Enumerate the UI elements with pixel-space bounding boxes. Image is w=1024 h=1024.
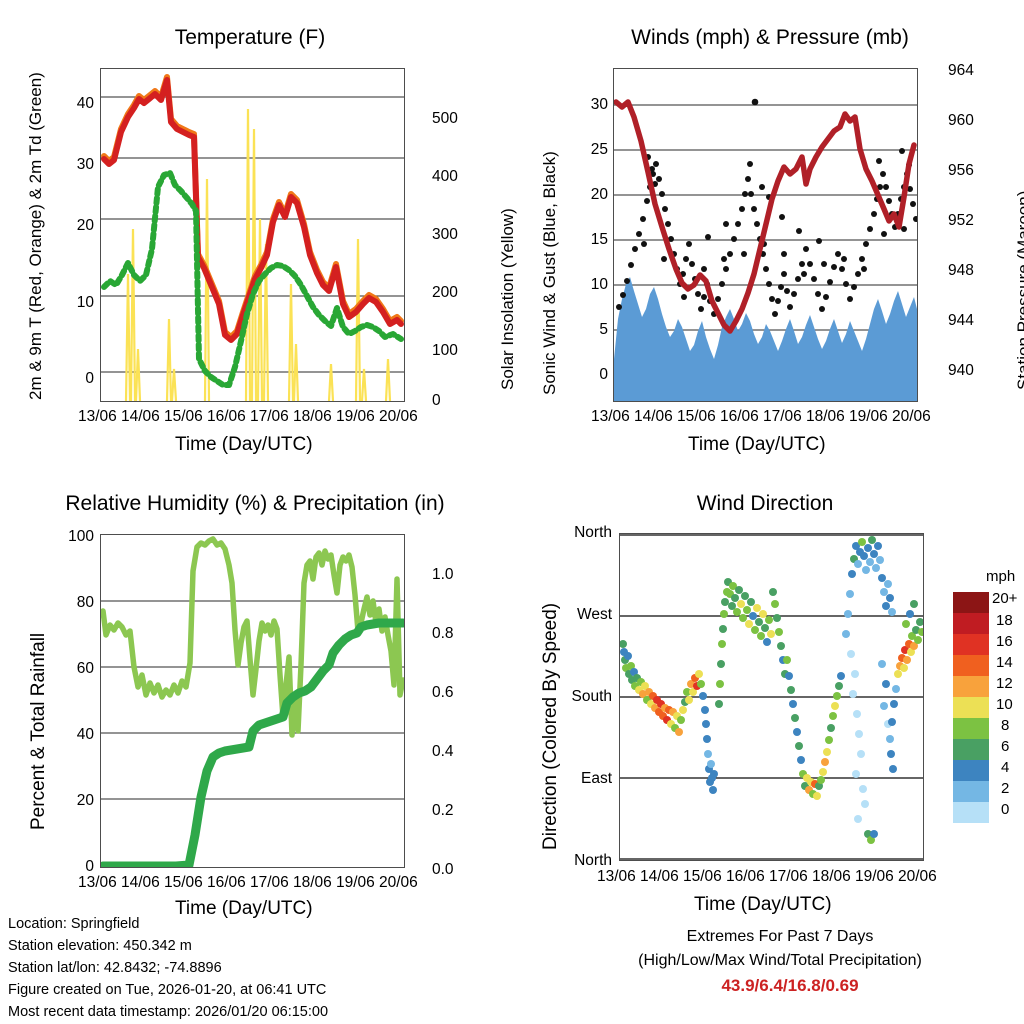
temperature-xtick-5: 18/06 <box>293 408 332 426</box>
humidity-xtick-7: 20/06 <box>379 874 418 892</box>
colorbar-unit-label: mph <box>986 568 1015 585</box>
temperature-ytick-right-2: 300 <box>432 226 458 244</box>
winddir-xlabel: Time (Day/UTC) <box>694 894 832 916</box>
temperature-ylabel-right: Solar Insolation (Yellow) <box>498 208 518 390</box>
winds-ylabel-left: Sonic Wind & Gust (Blue, Black) <box>540 151 560 395</box>
colorbar-label-5: 10 <box>996 696 1013 713</box>
winddir-xtick-2: 15/06 <box>683 868 722 886</box>
winds-ytick-left-5: 5 <box>568 321 608 339</box>
extremes-title: Extremes For Past 7 Days <box>600 928 960 946</box>
temperature-xlabel: Time (Day/UTC) <box>175 434 313 456</box>
temperature-xtick-0: 13/06 <box>78 408 117 426</box>
temperature-chart-svg <box>101 69 404 401</box>
temperature-ytick-right-5: 0 <box>432 392 441 410</box>
humidity-xlabel: Time (Day/UTC) <box>175 898 313 920</box>
winddir-ylabel-left: Direction (Colored By Speed) <box>540 603 562 850</box>
humidity-xtick-4: 17/06 <box>250 874 289 892</box>
humidity-ytick-left-3: 40 <box>50 726 94 744</box>
footer-latlon: Station lat/lon: 42.8432; -74.8896 <box>8 960 222 976</box>
winds-plot-area <box>613 68 918 402</box>
temperature-xtick-7: 20/06 <box>379 408 418 426</box>
winds-xtick-4: 17/06 <box>763 408 802 426</box>
winddir-xtick-3: 16/06 <box>726 868 765 886</box>
colorbar-label-4: 12 <box>996 675 1013 692</box>
winddir-title: Wind Direction <box>655 492 875 516</box>
winddir-xtick-7: 20/06 <box>898 868 937 886</box>
temperature-ytick-left-2: 20 <box>54 217 94 235</box>
extremes-subtitle: (High/Low/Max Wind/Total Precipitation) <box>580 952 980 970</box>
temperature-ytick-left-4: 0 <box>54 370 94 388</box>
humidity-plot-area <box>100 534 405 868</box>
footer-created: Figure created on Tue, 2026-01-20, at 06… <box>8 982 326 998</box>
temperature-xtick-6: 19/06 <box>336 408 375 426</box>
winddir-ytick-3: East <box>560 770 612 788</box>
humidity-ytick-right-3: 0.4 <box>432 743 454 761</box>
winds-ytick-right-1: 960 <box>948 112 974 130</box>
temperature-ytick-right-1: 400 <box>432 168 458 186</box>
colorbar-label-6: 8 <box>1001 717 1009 734</box>
footer-location: Location: Springfield <box>8 916 139 932</box>
winddir-xtick-4: 17/06 <box>769 868 808 886</box>
temperature-ytick-right-4: 100 <box>432 342 458 360</box>
winds-ytick-left-1: 25 <box>568 141 608 159</box>
winds-ytick-right-3: 952 <box>948 212 974 230</box>
humidity-xtick-2: 15/06 <box>164 874 203 892</box>
winddir-chart-svg <box>620 534 923 860</box>
winds-ytick-right-5: 944 <box>948 312 974 330</box>
winddir-plot-area <box>619 533 924 861</box>
winds-xtick-0: 13/06 <box>591 408 630 426</box>
colorbar-label-2: 16 <box>996 633 1013 650</box>
temperature-ytick-left-0: 40 <box>54 95 94 113</box>
colorbar-label-3: 14 <box>996 654 1013 671</box>
extremes-values: 43.9/6.4/16.8/0.69 <box>620 976 960 996</box>
humidity-ytick-right-2: 0.6 <box>432 684 454 702</box>
winds-xtick-5: 18/06 <box>806 408 845 426</box>
winddir-xtick-5: 18/06 <box>812 868 851 886</box>
winds-ytick-right-4: 948 <box>948 262 974 280</box>
humidity-ytick-left-1: 80 <box>50 594 94 612</box>
humidity-xtick-0: 13/06 <box>78 874 117 892</box>
winds-ytick-left-4: 10 <box>568 276 608 294</box>
humidity-ylabel-left: Percent & Total Rainfall <box>28 633 50 830</box>
winds-xlabel: Time (Day/UTC) <box>688 434 826 456</box>
winds-ytick-right-2: 956 <box>948 162 974 180</box>
footer-timestamp: Most recent data timestamp: 2026/01/20 0… <box>8 1004 328 1020</box>
winds-xtick-3: 16/06 <box>720 408 759 426</box>
winds-chart-svg <box>614 69 917 401</box>
winddir-xtick-1: 14/06 <box>640 868 679 886</box>
temperature-ytick-right-3: 200 <box>432 284 458 302</box>
winds-ytick-right-0: 964 <box>948 62 974 80</box>
temperature-ytick-left-1: 30 <box>54 156 94 174</box>
winds-ytick-left-0: 30 <box>568 96 608 114</box>
humidity-ytick-left-4: 20 <box>50 792 94 810</box>
winddir-ytick-0: North <box>560 524 612 542</box>
winddir-xtick-0: 13/06 <box>597 868 636 886</box>
temperature-xtick-3: 16/06 <box>207 408 246 426</box>
temperature-xtick-1: 14/06 <box>121 408 160 426</box>
colorbar-label-1: 18 <box>996 612 1013 629</box>
temperature-ylabel-left: 2m & 9m T (Red, Orange) & 2m Td (Green) <box>26 72 46 400</box>
temperature-plot-area <box>100 68 405 402</box>
temperature-ytick-right-0: 500 <box>432 110 458 128</box>
temperature-title: Temperature (F) <box>100 26 400 50</box>
humidity-ytick-left-0: 100 <box>50 528 94 546</box>
humidity-xtick-3: 16/06 <box>207 874 246 892</box>
temperature-xtick-2: 15/06 <box>164 408 203 426</box>
humidity-title: Relative Humidity (%) & Precipitation (i… <box>20 492 490 516</box>
humidity-xtick-1: 14/06 <box>121 874 160 892</box>
humidity-chart-svg <box>101 535 404 867</box>
winds-title: Winds (mph) & Pressure (mb) <box>600 26 940 50</box>
humidity-ytick-right-0: 1.0 <box>432 566 454 584</box>
temperature-ytick-left-3: 10 <box>54 294 94 312</box>
colorbar-label-7: 6 <box>1001 738 1009 755</box>
humidity-ytick-left-2: 60 <box>50 660 94 678</box>
colorbar <box>953 592 989 823</box>
winddir-ytick-2: South <box>560 688 612 706</box>
humidity-ytick-right-5: 0.0 <box>432 861 454 879</box>
winddir-ytick-1: West <box>560 606 612 624</box>
winds-xtick-1: 14/06 <box>634 408 673 426</box>
weather-dashboard: Temperature (F) 2m & 9m T (Red, Orange) … <box>0 0 1024 1024</box>
winds-ytick-left-3: 15 <box>568 231 608 249</box>
humidity-ytick-right-4: 0.2 <box>432 802 454 820</box>
footer-elevation: Station elevation: 450.342 m <box>8 938 192 954</box>
winds-ytick-left-6: 0 <box>568 366 608 384</box>
winddir-xtick-6: 19/06 <box>855 868 894 886</box>
winds-xtick-2: 15/06 <box>677 408 716 426</box>
winds-ytick-left-2: 20 <box>568 186 608 204</box>
winds-ylabel-right: Station Pressure (Maroon) <box>1014 191 1024 390</box>
temperature-xtick-4: 17/06 <box>250 408 289 426</box>
humidity-xtick-6: 19/06 <box>336 874 375 892</box>
colorbar-label-10: 0 <box>1001 801 1009 818</box>
colorbar-label-0: 20+ <box>992 590 1017 607</box>
humidity-ytick-right-1: 0.8 <box>432 625 454 643</box>
humidity-xtick-5: 18/06 <box>293 874 332 892</box>
colorbar-label-9: 2 <box>1001 780 1009 797</box>
winds-xtick-6: 19/06 <box>849 408 888 426</box>
winds-ytick-right-6: 940 <box>948 362 974 380</box>
colorbar-label-8: 4 <box>1001 759 1009 776</box>
winds-xtick-7: 20/06 <box>892 408 931 426</box>
colorbar-swatches <box>953 592 989 823</box>
